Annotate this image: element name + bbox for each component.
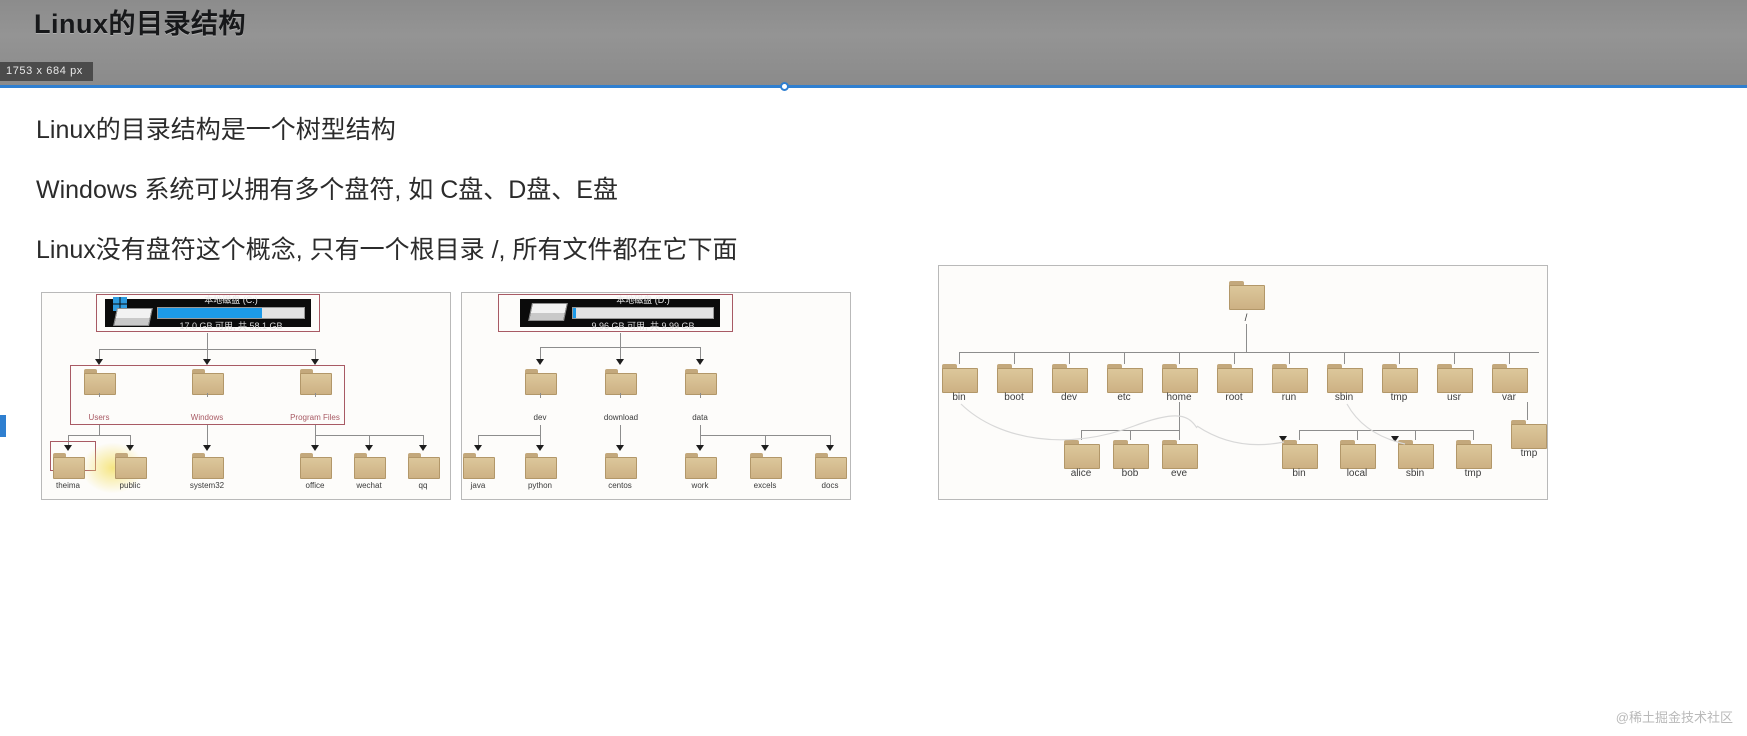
linux-l1-label-3: etc xyxy=(1096,392,1152,403)
arrow-icon xyxy=(419,445,427,451)
content-text-block: Linux的目录结构是一个树型结构 Windows 系统可以拥有多个盘符, 如 … xyxy=(36,100,1036,280)
drive-icon xyxy=(526,296,568,330)
folder-icon[interactable] xyxy=(1340,440,1374,467)
arrow-icon xyxy=(536,359,544,365)
connector xyxy=(620,333,621,347)
linux-l1-label-9: usr xyxy=(1426,392,1482,403)
connector xyxy=(1357,430,1358,440)
arrow-icon xyxy=(536,445,544,451)
connector xyxy=(1124,352,1125,364)
windows-d-drive-diagram: 本地磁盘 (D:) 9.96 GB 可用, 共 9.99 GB dev down… xyxy=(461,292,851,500)
arrow-icon xyxy=(474,445,482,451)
arrow-icon xyxy=(696,445,704,451)
windows-c-drive-diagram: 本地磁盘 (C:) 17.0 GB 可用, 共 58.1 GB Users Wi… xyxy=(41,292,451,500)
connector xyxy=(959,352,960,364)
linux-l1-label-5: root xyxy=(1205,392,1263,403)
c-level2-label-2: system32 xyxy=(177,481,237,490)
d-drive-name: 本地磁盘 (D:) xyxy=(572,295,714,305)
c-level2-label-3: office xyxy=(285,481,345,490)
d-level1-label-0: dev xyxy=(510,413,570,422)
linux-var-child-0: tmp xyxy=(1501,448,1557,459)
c-drive-usage-bar xyxy=(157,307,305,319)
arrow-icon xyxy=(616,359,624,365)
folder-icon[interactable] xyxy=(685,453,715,477)
harddisk-icon xyxy=(113,308,153,326)
window-titlebar: Linux的目录结构 1753 x 684 px xyxy=(0,0,1747,88)
folder-icon[interactable] xyxy=(1217,364,1251,391)
connector xyxy=(620,393,621,398)
c-drive-widget: 本地磁盘 (C:) 17.0 GB 可用, 共 58.1 GB xyxy=(105,299,311,327)
connector xyxy=(1299,430,1473,431)
d-level2-label-0: java xyxy=(448,481,508,490)
folder-icon[interactable] xyxy=(1327,364,1361,391)
connector xyxy=(959,352,1539,353)
d-level2-label-3: work xyxy=(670,481,730,490)
d-level2-label-1: python xyxy=(510,481,570,490)
connector xyxy=(620,425,621,447)
d-level2-label-4: excels xyxy=(735,481,795,490)
folder-icon[interactable] xyxy=(408,453,438,477)
linux-l1-label-1: boot xyxy=(986,392,1042,403)
connector xyxy=(1179,352,1180,364)
folder-icon[interactable] xyxy=(1052,364,1086,391)
folder-icon[interactable] xyxy=(997,364,1031,391)
linux-l1-label-10: var xyxy=(1481,392,1537,403)
connector xyxy=(700,393,701,398)
image-size-badge: 1753 x 684 px xyxy=(0,62,93,81)
connector xyxy=(1299,430,1300,440)
text-line-3: Linux没有盘符这个概念, 只有一个根目录 /, 所有文件都在它下面 xyxy=(36,220,1036,280)
folder-icon[interactable] xyxy=(1456,440,1490,467)
connector xyxy=(1527,402,1528,420)
arrow-icon xyxy=(616,445,624,451)
connector xyxy=(1246,324,1247,352)
connector xyxy=(540,393,541,398)
connector xyxy=(1415,430,1416,440)
connector xyxy=(68,435,130,436)
connector xyxy=(1014,352,1015,364)
connector xyxy=(207,333,208,349)
folder-icon[interactable] xyxy=(685,369,715,393)
resize-handle-left[interactable] xyxy=(0,415,6,437)
d-drive-widget: 本地磁盘 (D:) 9.96 GB 可用, 共 9.99 GB xyxy=(520,299,720,327)
folder-icon[interactable] xyxy=(463,453,493,477)
folder-icon[interactable] xyxy=(84,369,114,393)
folder-icon-root[interactable] xyxy=(1229,281,1263,308)
c-level2-label-1: public xyxy=(100,481,160,490)
c-drive-capacity: 17.0 GB 可用, 共 58.1 GB xyxy=(157,321,305,331)
resize-handle-top[interactable] xyxy=(780,82,789,91)
linux-root-label: / xyxy=(1229,313,1263,324)
folder-icon[interactable] xyxy=(1282,440,1316,467)
connector xyxy=(315,425,316,435)
d-level2-label-2: centos xyxy=(590,481,650,490)
connector xyxy=(1473,430,1474,440)
folder-icon[interactable] xyxy=(605,453,635,477)
connector xyxy=(1344,352,1345,364)
linux-home-child-2: eve xyxy=(1151,468,1207,479)
c-level2-label-5: qq xyxy=(393,481,453,490)
linux-usr-child-0: bin xyxy=(1271,468,1327,479)
connector xyxy=(1234,352,1235,364)
watermark: @稀土掘金技术社区 xyxy=(1616,707,1733,726)
c-drive-name: 本地磁盘 (C:) xyxy=(157,295,305,305)
folder-icon[interactable] xyxy=(1107,364,1141,391)
c-level1-label-0: Users xyxy=(64,413,134,422)
folder-icon[interactable] xyxy=(192,369,222,393)
connector xyxy=(1289,352,1290,364)
linux-l1-label-7: sbin xyxy=(1316,392,1372,403)
folder-icon[interactable] xyxy=(1113,440,1147,467)
folder-icon[interactable] xyxy=(1398,440,1432,467)
drive-icon xyxy=(111,296,153,330)
arrow-icon xyxy=(311,445,319,451)
folder-icon[interactable] xyxy=(192,453,222,477)
connector xyxy=(1130,430,1131,440)
folder-icon[interactable] xyxy=(1492,364,1526,391)
folder-icon[interactable] xyxy=(525,369,555,393)
arrow-icon xyxy=(826,445,834,451)
folder-icon[interactable] xyxy=(605,369,635,393)
connector xyxy=(1179,402,1180,430)
selection-bar xyxy=(0,85,1747,88)
arrow-icon xyxy=(203,445,211,451)
folder-icon[interactable] xyxy=(53,453,83,477)
c-level1-label-2: Program Files xyxy=(274,413,356,422)
connector xyxy=(99,425,100,435)
connector xyxy=(540,425,541,435)
d-drive-usage-bar xyxy=(572,307,714,319)
connector xyxy=(1509,352,1510,364)
connector xyxy=(1179,430,1180,440)
linux-l1-label-6: run xyxy=(1261,392,1317,403)
connector xyxy=(315,393,316,397)
folder-icon[interactable] xyxy=(1511,420,1545,447)
folder-icon[interactable] xyxy=(525,453,555,477)
folder-icon[interactable] xyxy=(300,369,330,393)
linux-l1-label-2: dev xyxy=(1041,392,1097,403)
connector xyxy=(1081,430,1082,440)
linux-home-child-0: alice xyxy=(1053,468,1109,479)
folder-icon[interactable] xyxy=(815,453,845,477)
d-drive-capacity: 9.96 GB 可用, 共 9.99 GB xyxy=(572,321,714,331)
connector xyxy=(207,425,208,447)
connector xyxy=(1399,352,1400,364)
page-title: Linux的目录结构 xyxy=(34,2,246,41)
d-level2-label-5: docs xyxy=(800,481,860,490)
d-level1-label-1: download xyxy=(585,413,657,422)
folder-icon[interactable] xyxy=(300,453,330,477)
text-line-2: Windows 系统可以拥有多个盘符, 如 C盘、D盘、E盘 xyxy=(36,160,1036,220)
connector xyxy=(1454,352,1455,364)
linux-usr-child-1: local xyxy=(1329,468,1385,479)
connector xyxy=(478,435,540,436)
folder-icon[interactable] xyxy=(1162,364,1196,391)
arrow-icon xyxy=(696,359,704,365)
folder-icon[interactable] xyxy=(750,453,780,477)
folder-icon[interactable] xyxy=(354,453,384,477)
linux-l1-label-0: bin xyxy=(931,392,987,403)
folder-icon[interactable] xyxy=(1382,364,1416,391)
arrow-icon xyxy=(365,445,373,451)
folder-icon[interactable] xyxy=(942,364,976,391)
c-level2-label-4: wechat xyxy=(339,481,399,490)
harddisk-icon xyxy=(528,303,568,321)
d-level1-label-2: data xyxy=(670,413,730,422)
connector xyxy=(1069,352,1070,364)
linux-usr-child-3: tmp xyxy=(1445,468,1501,479)
text-line-1: Linux的目录结构是一个树型结构 xyxy=(36,100,1036,160)
connector xyxy=(700,425,701,435)
linux-home-child-1: bob xyxy=(1102,468,1158,479)
folder-icon[interactable] xyxy=(1437,364,1471,391)
linux-usr-child-2: sbin xyxy=(1387,468,1443,479)
connector xyxy=(207,393,208,397)
c-level2-label-0: theima xyxy=(38,481,98,490)
folder-icon[interactable] xyxy=(1162,440,1196,467)
folder-icon[interactable] xyxy=(115,453,145,477)
folder-icon[interactable] xyxy=(1064,440,1098,467)
folder-icon[interactable] xyxy=(1272,364,1306,391)
linux-l1-label-8: tmp xyxy=(1371,392,1427,403)
c-level1-label-1: Windows xyxy=(172,413,242,422)
linux-filesystem-tree-diagram: / bin boot dev etc home root run sbin tm… xyxy=(938,265,1548,500)
connector xyxy=(99,393,100,397)
arrow-icon xyxy=(761,445,769,451)
